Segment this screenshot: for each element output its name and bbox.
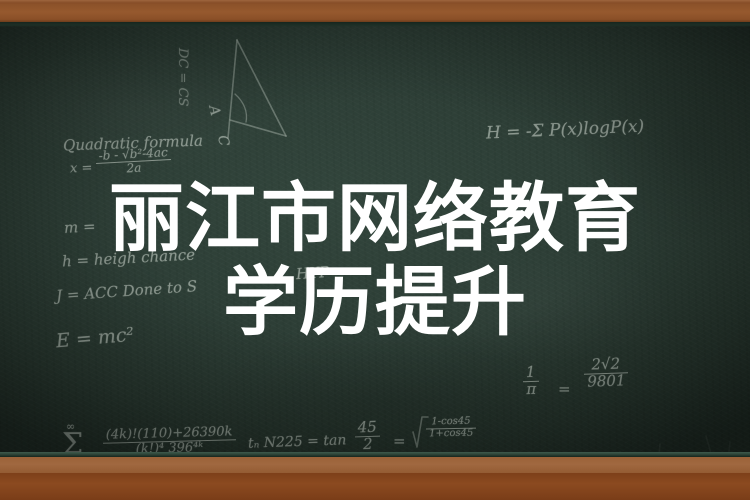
stray-chalk-marks — [610, 422, 740, 452]
pi-reciprocal-numerator: 1 — [526, 363, 536, 381]
ramanujan-sigma-upper-limit: ∞ — [66, 420, 75, 433]
poster-screenshot: DC = CS A C H = -Σ P(x)logP(x) Quadratic… — [0, 0, 750, 500]
tan-numerator: 45 — [357, 418, 377, 437]
tan-equals-sign: = — [393, 432, 406, 450]
quadratic-numerator-text: -b - √b²-4ac — [98, 145, 168, 163]
tan-expression: tₙ N225 = tan — [248, 432, 347, 451]
chalkboard-surface: DC = CS A C H = -Σ P(x)logP(x) Quadratic… — [0, 22, 750, 452]
pi-reciprocal-denominator: π — [526, 380, 536, 398]
tan-denominator: 2 — [363, 435, 373, 452]
ramanujan-denominator: (k!)⁴ 396⁴ᵏ — [136, 440, 204, 452]
frame-top-highlight — [0, 0, 750, 3]
quadratic-numerator: -b - √b²-4ac 2a — [95, 146, 171, 176]
frame-top-inner-shadow — [0, 22, 750, 27]
ramanujan-numerator: (4k)!(110)+26390k — [106, 424, 233, 442]
triangle-label: DC = CS — [175, 48, 190, 106]
triangle-diagram — [178, 24, 308, 144]
quadratic-x-label: x = — [70, 161, 93, 177]
tan-radical-denominator: 1+cos45 — [429, 427, 473, 439]
pi-numerator: 2√2 — [591, 355, 620, 374]
ramanujan-sigma: Σ — [62, 427, 83, 452]
entropy-formula: H = -Σ P(x)logP(x) — [486, 117, 645, 144]
mass-energy-formula: E = mc² — [55, 324, 135, 353]
chalkboard-grain-texture — [0, 22, 750, 452]
quadratic-denominator-text: 2a — [126, 160, 142, 175]
pi-denominator: 9801 — [587, 371, 626, 390]
triangle-side-a-label: C — [214, 134, 232, 147]
tan-radicand-fraction: 1-cos45 1+cos45 — [426, 417, 477, 440]
tan-half-angle-fraction: 45 2 — [354, 420, 380, 452]
ramanujan-fraction: (4k)!(110)+26390k (k!)⁴ 396⁴ᵏ — [103, 425, 236, 452]
frame-top-wood — [0, 0, 750, 22]
frame-bottom-wood — [0, 473, 750, 500]
frame-bottom-chalk-tray — [0, 457, 750, 473]
chalkboard-vignette — [0, 22, 750, 452]
chalkboard-smudge-overlay — [0, 22, 750, 452]
pi-equals-sign: = — [558, 380, 571, 398]
quadratic-formula-label: Quadratic formula — [63, 132, 204, 155]
m-equals-note: m = — [64, 217, 96, 237]
hyp-label: HYP — [295, 263, 329, 283]
tan-radical-sign — [412, 414, 428, 450]
j-definition-note: J = ACC Done to S — [56, 277, 198, 305]
pi-reciprocal-fraction: 1 π — [522, 365, 539, 398]
triangle-side-c-label: A — [205, 104, 223, 117]
h-definition-note: h = heigh chance — [62, 246, 196, 271]
tan-radical-numerator: 1-cos45 — [431, 416, 470, 428]
pi-series-fraction: 2√2 9801 — [583, 356, 628, 390]
